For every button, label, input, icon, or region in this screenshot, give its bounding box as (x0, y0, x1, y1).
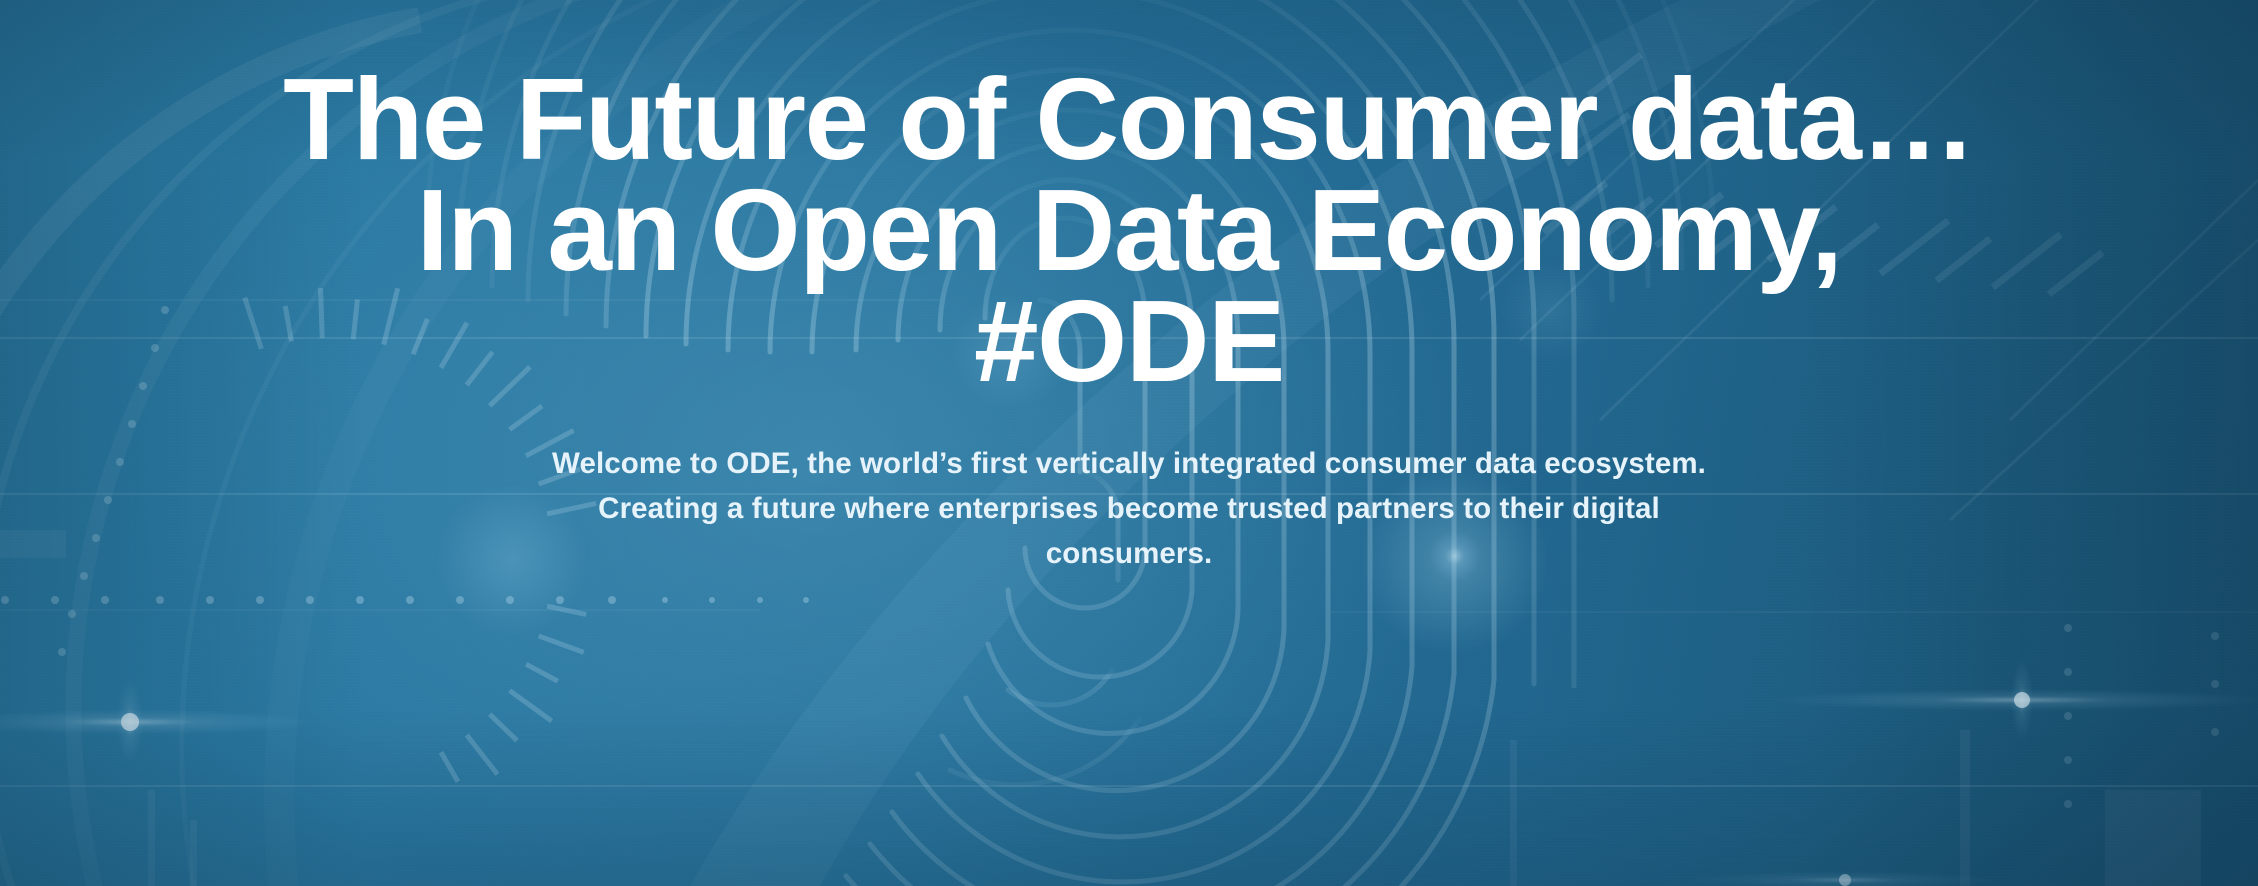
headline-line-2: In an Open Data Economy, (44, 175, 2214, 286)
headline-line-1: The Future of Consumer data… (44, 64, 2214, 175)
subtitle-line-2: Creating a future where enterprises beco… (504, 486, 1754, 531)
headline-line-3: #ODE (44, 286, 2214, 397)
page-title: The Future of Consumer data… In an Open … (44, 64, 2214, 397)
hero-subtitle: Welcome to ODE, the world’s first vertic… (504, 441, 1754, 576)
hero-content: The Future of Consumer data… In an Open … (0, 0, 2258, 886)
subtitle-line-1: Welcome to ODE, the world’s first vertic… (504, 441, 1754, 486)
subtitle-line-3: consumers. (504, 531, 1754, 576)
hero-banner: The Future of Consumer data… In an Open … (0, 0, 2258, 886)
